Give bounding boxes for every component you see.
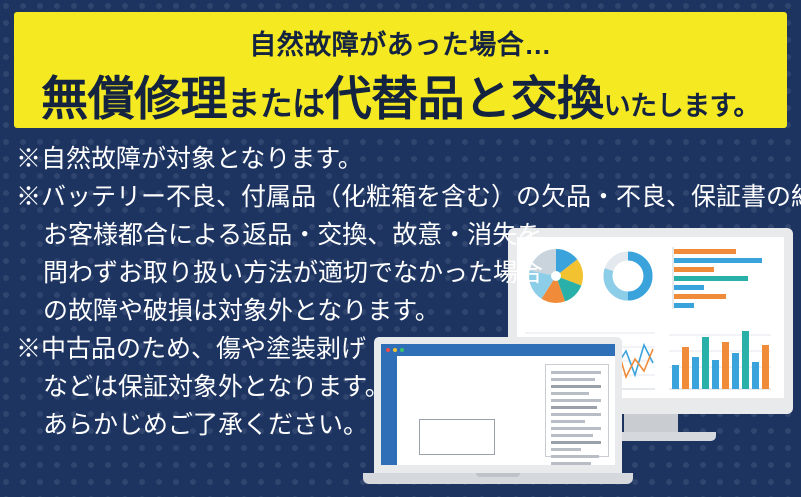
doc-line (551, 413, 601, 416)
chart-donut (599, 247, 657, 305)
note-line: お客様都合による返品・交換、故意・消失を (16, 216, 536, 254)
doc-line (551, 434, 593, 437)
vertical-bar-chart-svg (669, 321, 771, 393)
headline-part-or: または (227, 85, 325, 122)
note-line: ※自然故障が対象となります。 (16, 140, 536, 178)
headline-line-2: 無償修理または代替品と交換いたします。 (14, 60, 787, 129)
doc-line (551, 371, 601, 374)
doc-line (551, 441, 601, 444)
doc-line (551, 448, 581, 451)
headline-banner: 自然故障があった場合… 無償修理または代替品と交換いたします。 (14, 12, 787, 128)
window-minimize-dot-icon[interactable] (393, 348, 397, 352)
note-line: ※バッテリー不良、付属品（化粧箱を含む）の欠品・不良、保証書の紛失、 (16, 178, 536, 216)
window-maximize-dot-icon[interactable] (400, 348, 404, 352)
donut-chart-svg (599, 247, 657, 305)
window-body (397, 356, 615, 465)
doc-line (551, 462, 591, 465)
headline-part-replacement: 代替品と交換 (325, 72, 604, 125)
window-sidebar (381, 356, 397, 465)
doc-line (551, 420, 585, 423)
doc-line (551, 378, 595, 381)
chart-vertical-bars (669, 321, 771, 393)
document-panel (545, 364, 609, 457)
laptop-trackpad-notch (476, 473, 520, 477)
laptop-screen (381, 344, 615, 465)
window-close-dot-icon[interactable] (386, 348, 390, 352)
chart-horizontal-bars (669, 247, 771, 309)
doc-line (551, 406, 597, 409)
doc-line (551, 399, 601, 402)
promo-graphic: 自然故障があった場合… 無償修理または代替品と交換いたします。 ※自然故障が対象… (0, 0, 801, 497)
note-line: の故障や破損は対象外となります。 (16, 292, 536, 330)
headline-part-free-repair: 無償修理 (41, 72, 227, 125)
window-titlebar (381, 344, 615, 356)
laptop-illustration (374, 337, 622, 484)
doc-line (551, 455, 599, 458)
laptop-base (363, 473, 633, 484)
headline-line-1: 自然故障があった場合… (14, 23, 787, 62)
doc-line (551, 385, 601, 388)
monitor-stand-neck (624, 414, 678, 432)
headline-part-suffix: いたします。 (604, 91, 760, 121)
horizontal-bar-chart-svg (669, 247, 771, 309)
note-line: 問わずお取り扱い方法が適切でなかった場合 (16, 254, 536, 292)
doc-line (551, 427, 601, 430)
doc-line (551, 392, 589, 395)
modal-dialog[interactable] (419, 419, 495, 455)
laptop-lid (374, 337, 622, 473)
